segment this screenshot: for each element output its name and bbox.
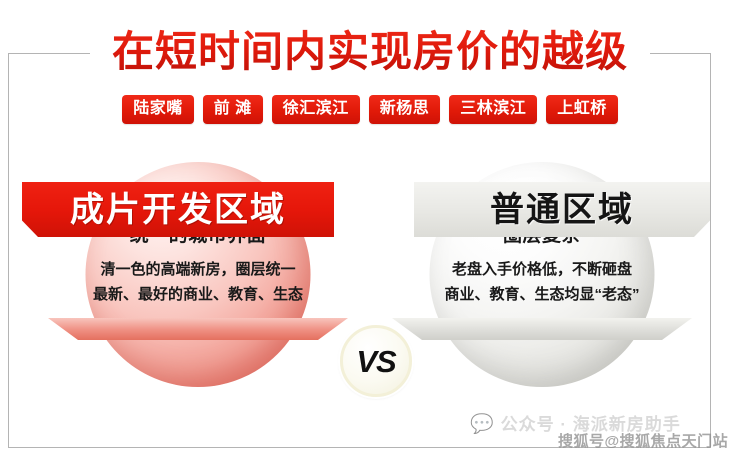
district-tag-lujiazui[interactable]: 陆家嘴 — [122, 95, 194, 124]
district-tag-qiantan[interactable]: 前 滩 — [203, 95, 263, 124]
panel-left-detail-1: 清一色的高端新房，圈层统一 — [48, 258, 348, 281]
banner-right: 普通区域 — [414, 182, 710, 237]
district-tag-shanghongqiao[interactable]: 上虹桥 — [546, 95, 618, 124]
sohu-watermark-text: 搜狐号@搜狐焦点天门站 — [558, 433, 728, 450]
banner-left: 成片开发区域 — [22, 182, 334, 237]
banner-left-label: 成片开发区域 — [70, 191, 286, 229]
district-tag-xinyangsi[interactable]: 新杨思 — [369, 95, 441, 124]
vs-badge: VS — [340, 325, 412, 397]
panel-left-detail-2: 最新、最好的商业、教育、生态 — [48, 283, 348, 306]
district-tag-row: 陆家嘴 前 滩 徐汇滨江 新杨思 三林滨江 上虹桥 — [0, 95, 740, 124]
district-tag-sanlinbinjiang[interactable]: 三林滨江 — [449, 95, 537, 124]
wechat-watermark-text: 公众号 · 海派新房助手 — [501, 415, 681, 434]
banner-right-label: 普通区域 — [490, 191, 634, 229]
panel-right-detail-2: 商业、教育、生态均显“老态” — [392, 283, 692, 306]
wechat-icon: 💬 — [470, 415, 494, 434]
district-tag-xuhuibinjiang[interactable]: 徐汇滨江 — [272, 95, 360, 124]
panel-right-detail-1: 老盘入手价格低，不断砸盘 — [392, 258, 692, 281]
vs-label: VS — [356, 346, 395, 377]
pedestal-right — [392, 318, 692, 340]
wechat-watermark: 💬 公众号 · 海派新房助手 — [470, 415, 681, 434]
poster-title: 在短时间内实现房价的越级 — [0, 24, 740, 80]
pedestal-left — [48, 318, 348, 340]
poster-root: 在短时间内实现房价的越级 陆家嘴 前 滩 徐汇滨江 新杨思 三林滨江 上虹桥 最… — [0, 0, 740, 465]
